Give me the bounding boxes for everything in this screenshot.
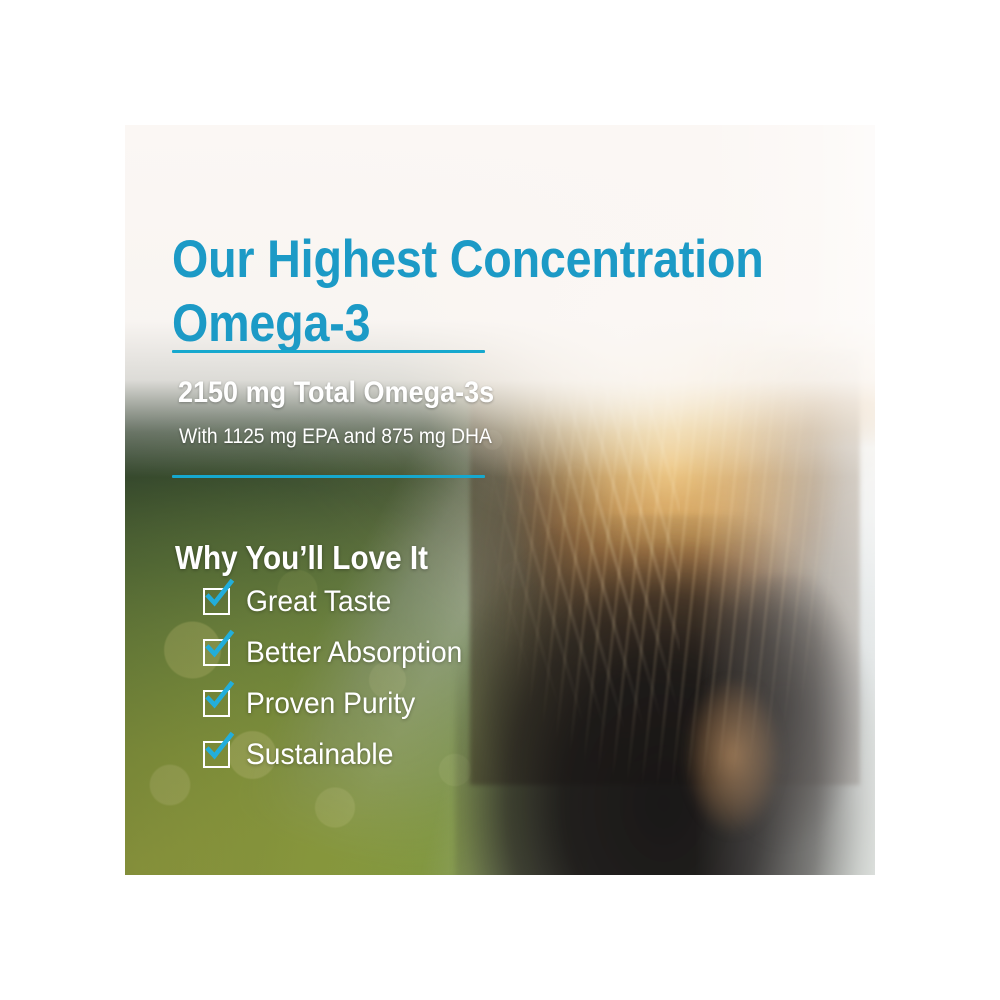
divider-bottom: [172, 475, 485, 478]
benefits-list: Great Taste Better Absorption: [203, 586, 623, 790]
total-omega3-value: 2150 mg Total Omega-3s: [178, 376, 494, 410]
checkbox-checked-icon: [203, 741, 230, 768]
benefits-heading: Why You’ll Love It: [175, 539, 428, 577]
checkbox-checked-icon: [203, 639, 230, 666]
content-overlay: Our Highest Concentration Omega-3 2150 m…: [0, 0, 1000, 1000]
benefit-item-sustainable: Sustainable: [203, 739, 623, 790]
page-title-line-1: Our Highest Concentration: [172, 228, 718, 292]
check-mark-icon: [202, 732, 236, 766]
product-info-graphic: Our Highest Concentration Omega-3 2150 m…: [0, 0, 1000, 1000]
benefit-item-proven-purity: Proven Purity: [203, 688, 623, 739]
divider-top: [172, 350, 485, 353]
benefit-label: Better Absorption: [246, 637, 462, 669]
checkbox-checked-icon: [203, 588, 230, 615]
benefit-item-better-absorption: Better Absorption: [203, 637, 623, 688]
page-title-line-2: Omega-3: [172, 292, 718, 356]
check-mark-icon: [202, 630, 236, 664]
benefit-label: Great Taste: [246, 586, 391, 618]
page-title: Our Highest Concentration Omega-3: [172, 228, 718, 356]
benefit-label: Proven Purity: [246, 688, 415, 720]
benefit-item-great-taste: Great Taste: [203, 586, 623, 637]
epa-dha-breakdown: With 1125 mg EPA and 875 mg DHA: [179, 425, 492, 449]
checkbox-checked-icon: [203, 690, 230, 717]
check-mark-icon: [202, 579, 236, 613]
check-mark-icon: [202, 681, 236, 715]
benefit-label: Sustainable: [246, 739, 393, 771]
